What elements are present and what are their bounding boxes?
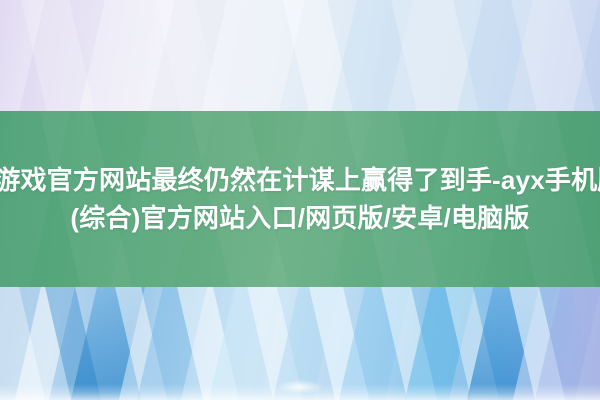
chevron-shape (462, 287, 545, 400)
chevron-shape (204, 287, 283, 400)
chevron-shape (506, 0, 600, 111)
chevron-shape (268, 287, 345, 400)
bottom-band (0, 287, 600, 400)
watermark (277, 380, 323, 394)
chevron-shape (304, 287, 375, 400)
chevron-shape (172, 287, 245, 400)
chevron-shape (196, 0, 310, 111)
chevron-shape (452, 0, 538, 111)
chevron-shape (16, 0, 100, 111)
chevron-shape (132, 287, 213, 400)
chevron-shape (0, 287, 50, 400)
chevron-shape (386, 0, 484, 111)
page-title: ayx爱游戏官方网站最终仍然在计谋上赢得了到手-ayx手机版登录(综合)官方网站… (0, 161, 600, 237)
chevron-shape (66, 287, 151, 400)
chevron-shape (440, 287, 505, 400)
chevron-shape (566, 287, 600, 400)
chevron-shape (568, 0, 600, 111)
decorative-banner: ayx爱游戏官方网站最终仍然在计谋上赢得了到手-ayx手机版登录(综合)官方网站… (0, 0, 600, 400)
chevron-shape (10, 287, 81, 400)
chevron-shape (400, 287, 481, 400)
chevron-shape (334, 287, 417, 400)
chevron-shape (326, 0, 418, 111)
bottom-glow (0, 384, 600, 400)
chevron-shape (278, 0, 358, 111)
chevron-shape (530, 287, 600, 400)
chevron-shape (150, 0, 226, 111)
chevron-shape (504, 287, 571, 400)
top-band (0, 0, 600, 111)
chevron-shape (376, 287, 443, 400)
chevron-shape (110, 287, 173, 400)
chevron-shape (242, 287, 309, 400)
chevron-shape (40, 287, 107, 400)
headline-container: ayx爱游戏官方网站最终仍然在计谋上赢得了到手-ayx手机版登录(综合)官方网站… (0, 111, 600, 287)
chevron-shape (0, 0, 50, 111)
chevron-shape (74, 0, 180, 111)
